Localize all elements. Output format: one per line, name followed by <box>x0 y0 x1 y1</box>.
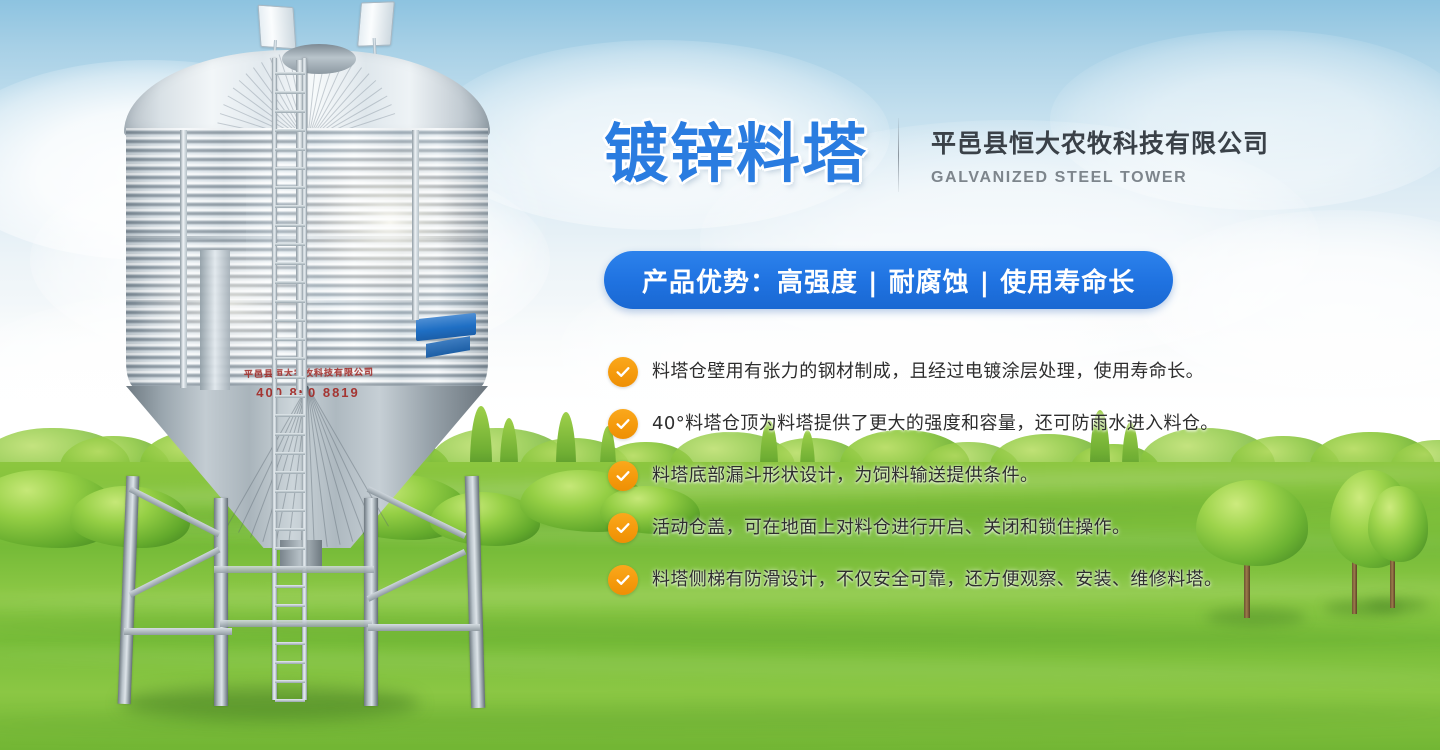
silo-phone-text: 400 850 8819 <box>218 385 398 400</box>
check-circle-icon <box>608 513 638 543</box>
feature-item: 料塔仓壁用有张力的钢材制成，且经过电镀涂层处理，使用寿命长。 <box>608 356 1438 390</box>
silo-horizontal-brace <box>368 624 480 631</box>
ladder-rung <box>275 243 305 246</box>
ladder-rung <box>275 680 305 683</box>
check-circle-icon <box>608 565 638 595</box>
ladder-rung <box>275 509 305 512</box>
company-subtitle-en: GALVANIZED STEEL TOWER <box>931 169 1269 187</box>
silo-hatch-lid <box>258 5 297 50</box>
ladder-rung <box>275 300 305 303</box>
feature-list: 料塔仓壁用有张力的钢材制成，且经过电镀涂层处理，使用寿命长。40°料塔仓顶为料塔… <box>608 356 1438 616</box>
feed-silo-illustration: 平邑县恒大农牧科技有限公司 400 850 8819 <box>96 0 516 750</box>
ladder-rung <box>275 338 305 341</box>
silo-roof-cap <box>282 44 356 74</box>
ladder-rung <box>275 547 305 550</box>
check-circle-icon <box>608 409 638 439</box>
silo-horizontal-brace <box>214 566 374 573</box>
company-block: 平邑县恒大农牧科技有限公司 GALVANIZED STEEL TOWER <box>931 124 1269 187</box>
silo-cross-brace <box>367 549 467 602</box>
silo-leg <box>465 476 485 708</box>
ladder-rung <box>275 357 305 360</box>
silo-stiffener <box>180 130 187 388</box>
ladder-rung <box>275 186 305 189</box>
ladder-rung <box>275 91 305 94</box>
page-title: 镀锌料塔 <box>604 123 868 187</box>
ladder-rung <box>275 699 305 702</box>
silo-horizontal-brace <box>220 620 372 627</box>
ladder-rung <box>275 661 305 664</box>
ladder-rung <box>275 452 305 455</box>
ladder-rung <box>275 224 305 227</box>
ladder-rung <box>275 167 305 170</box>
feature-text: 料塔仓壁用有张力的钢材制成，且经过电镀涂层处理，使用寿命长。 <box>652 356 1204 388</box>
ladder-rung <box>275 395 305 398</box>
ladder-rung <box>275 376 305 379</box>
ladder-rung <box>275 205 305 208</box>
ladder-rung <box>275 319 305 322</box>
ladder-rung <box>275 490 305 493</box>
check-circle-icon <box>608 357 638 387</box>
feature-text: 料塔底部漏斗形状设计，为饲料输送提供条件。 <box>652 460 1038 492</box>
ladder-rung <box>275 414 305 417</box>
ladder-rung <box>275 528 305 531</box>
silo-stiffener-plate <box>200 250 230 390</box>
advantage-pill: 产品优势：高强度 | 耐腐蚀 | 使用寿命长 <box>604 251 1173 309</box>
title-divider <box>898 118 899 192</box>
silo-cross-brace <box>129 486 221 537</box>
title-row: 镀锌料塔 平邑县恒大农牧科技有限公司 GALVANIZED STEEL TOWE… <box>604 118 1269 192</box>
silo-hatch-lid <box>357 1 395 46</box>
ladder-rung <box>275 281 305 284</box>
silo-leg <box>364 498 378 706</box>
ladder-rung <box>275 110 305 113</box>
silo-stiffener <box>412 130 419 320</box>
ladder-rung <box>275 604 305 607</box>
feature-item: 活动仓盖，可在地面上对料仓进行开启、关闭和锁住操作。 <box>608 512 1438 546</box>
feature-item: 料塔底部漏斗形状设计，为饲料输送提供条件。 <box>608 460 1438 494</box>
silo-cross-brace <box>129 547 221 598</box>
banner-content: 镀锌料塔 平邑县恒大农牧科技有限公司 GALVANIZED STEEL TOWE… <box>604 0 1440 750</box>
advantage-label: 产品优势：高强度 | 耐腐蚀 | 使用寿命长 <box>642 262 1135 299</box>
feature-item: 40°料塔仓顶为料塔提供了更大的强度和容量，还可防雨水进入料仓。 <box>608 408 1438 442</box>
feature-text: 活动仓盖，可在地面上对料仓进行开启、关闭和锁住操作。 <box>652 512 1130 544</box>
company-name: 平邑县恒大农牧科技有限公司 <box>931 124 1269 160</box>
hero-banner: 平邑县恒大农牧科技有限公司 400 850 8819 镀锌料塔 <box>0 0 1440 750</box>
ladder-rung <box>275 585 305 588</box>
feature-text: 40°料塔仓顶为料塔提供了更大的强度和容量，还可防雨水进入料仓。 <box>652 408 1219 440</box>
feature-item: 料塔侧梯有防滑设计，不仅安全可靠，还方便观察、安装、维修料塔。 <box>608 564 1438 598</box>
ladder-rung <box>275 433 305 436</box>
feature-text: 料塔侧梯有防滑设计，不仅安全可靠，还方便观察、安装、维修料塔。 <box>652 564 1222 596</box>
check-circle-icon <box>608 461 638 491</box>
ladder-rung <box>275 642 305 645</box>
ladder-rung <box>275 148 305 151</box>
silo-horizontal-brace <box>124 628 232 635</box>
ladder-rung <box>275 471 305 474</box>
ladder-rung <box>275 262 305 265</box>
ladder-rung <box>275 129 305 132</box>
ladder-rung <box>275 72 305 75</box>
